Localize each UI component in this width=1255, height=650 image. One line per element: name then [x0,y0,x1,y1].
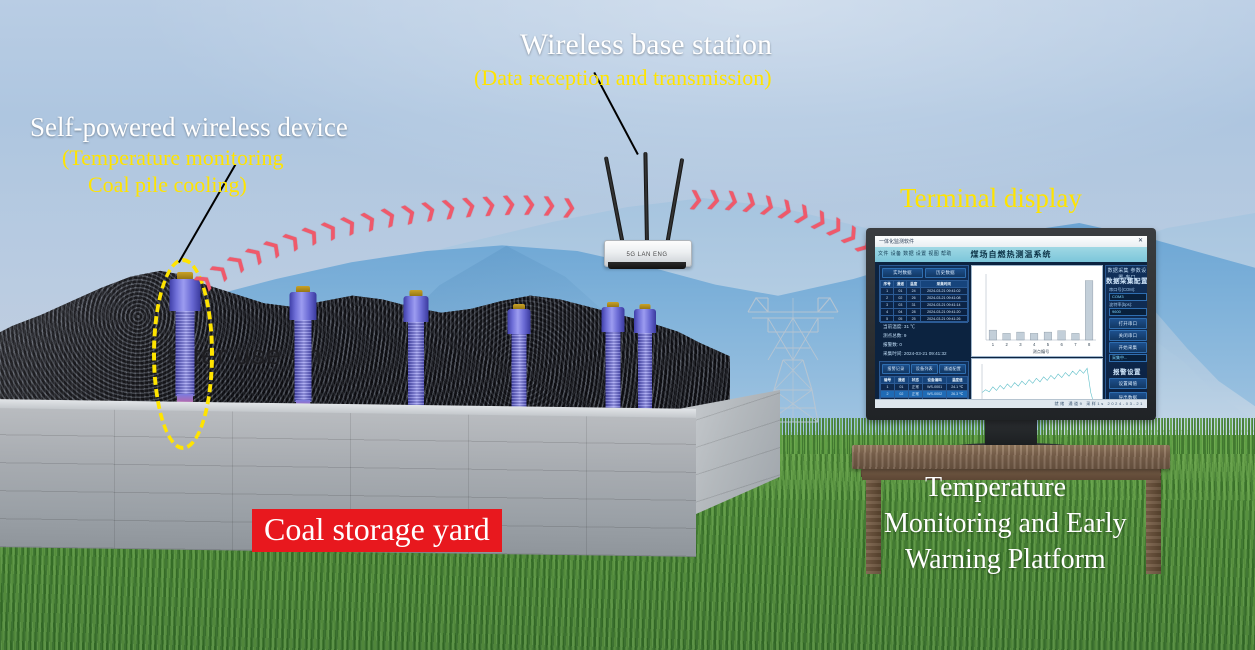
tab-alarm-records[interactable]: 报警记录 [882,364,910,374]
cell: 正常 [908,384,922,391]
baud-rate-input[interactable]: 9600 [1109,308,1147,316]
cell: 26.3 ℃ [947,391,968,398]
table-header-row: 编号 通道 状态 设备编码 温度值 [881,377,968,384]
collect-status-input[interactable]: 采集中... [1109,354,1147,362]
info-current-temp: 当前温度: 31 ℃ [883,324,915,330]
cell: 2024-03-21 09:41:02 [920,288,967,295]
table-row[interactable]: 2 02 26 2024-03-21 09:41:08 [881,295,968,302]
col-device-code: 设备编码 [922,377,947,384]
control-panel[interactable]: 数据采集 参数设置 串口 数据采集配置 串口号(COM): COM3 波特率(b… [1105,265,1147,408]
probe-body [290,292,317,320]
info-alarm-count: 报警数: 0 [883,342,902,348]
monitor-screen[interactable]: 一体化监测软件 ✕ 文件 设备 数据 设置 视图 帮助 煤场自燃热测温系统 实时… [875,236,1147,408]
device-label-subtitle-1: (Temperature monitoring [62,145,283,171]
cell: 2024-03-21 09:41:14 [920,302,967,309]
terminal-monitor[interactable]: 一体化监测软件 ✕ 文件 设备 数据 设置 视图 帮助 煤场自燃热测温系统 实时… [866,228,1156,420]
device-label-title: Self-powered wireless device [30,112,348,143]
tab-device-list[interactable]: 设备列表 [911,364,938,374]
table-row[interactable]: 5 05 25 2024-03-21 09:41:26 [881,316,968,323]
cell: 4 [881,309,894,316]
cell: 31 [907,302,920,309]
open-serial-button[interactable]: 打开串口 [1109,318,1147,329]
cell: 02 [894,391,908,398]
bench-leg-left [866,466,881,574]
realtime-data-panel[interactable]: 实时数据 历史数据 序号 通道 温度 采集时间 1 [879,265,969,322]
svg-text:测点编号: 测点编号 [1033,348,1050,355]
bar-chart-svg: 12345678测点编号 [972,266,1102,356]
bench-top [852,445,1170,469]
cell: 25 [907,316,920,323]
control-panel-heading-top: 数据采集配置 [1106,275,1147,285]
base-station-label-title: Wireless base station [520,28,772,62]
tab-realtime-data[interactable]: 实时数据 [882,268,923,278]
coal-watermark-text: after use 4h [168,340,498,371]
cell: WS-0001 [922,384,947,391]
cell: 正常 [908,391,922,398]
start-collect-button[interactable]: 开始采集 [1109,342,1147,353]
scene-illustration: after use 4h [0,0,1255,650]
cell: WS-0002 [922,391,947,398]
router-port-label: 5G LAN ENG [612,252,682,258]
cell: 28 [907,309,920,316]
platform-label-line2: Monitoring and Early [884,508,1127,540]
probe-body [508,309,531,334]
col-channel: 通道 [894,281,907,288]
coal-storage-yard-banner: Coal storage yard [252,509,502,552]
monitor-neck [985,418,1037,448]
probe-body [602,307,625,332]
probe-body [404,296,429,322]
close-icon[interactable]: ✕ [1138,237,1143,244]
cell: 2 [881,391,895,398]
router-base-plate [608,262,686,269]
cell: 01 [894,384,908,391]
table-row[interactable]: 3 03 31 2024-03-21 09:41:14 [881,302,968,309]
cell: 24.1 ℃ [947,384,968,391]
cell: 1 [881,384,895,391]
app-body: 实时数据 历史数据 序号 通道 温度 采集时间 1 [875,262,1147,408]
app-menubar[interactable]: 文件 设备 数据 设置 视图 帮助 煤场自燃热测温系统 [875,247,1147,262]
platform-label-line1: Temperature [925,472,1066,504]
col-temp: 温度 [907,281,920,288]
col-value: 温度值 [947,377,968,384]
probe-neck [638,333,652,415]
col-index: 序号 [881,281,894,288]
cell: 04 [894,309,907,316]
bench-leg-right [1146,466,1161,574]
cell: 3 [881,302,894,309]
cell: 2024-03-21 09:41:20 [920,309,967,316]
table-row[interactable]: 1 01 正常 WS-0001 24.1 ℃ [881,384,968,391]
bar-chart-panel[interactable]: 12345678测点编号 [971,265,1103,357]
app-window-title: 一体化监测软件 [879,238,914,245]
serial-port-input[interactable]: COM3 [1109,293,1147,301]
statusbar-text: 就绪 通道9 采样1s 2024-03-21 [1055,401,1144,407]
col-status: 状态 [908,377,922,384]
tab-history-data[interactable]: 历史数据 [925,268,966,278]
realtime-data-table[interactable]: 序号 通道 温度 采集时间 1 01 24 2024-03-21 09:41:0… [880,280,968,323]
tab-channel-config[interactable]: 通道配置 [939,364,966,374]
col-time: 采集时间 [920,281,967,288]
app-statusbar: 就绪 通道9 采样1s 2024-03-21 [875,399,1147,408]
probe-body [634,309,656,333]
info-timestamp: 采集时间: 2024-03-21 09:41:32 [883,351,947,357]
info-point-count: 测点总数: 9 [883,333,906,339]
cell: 03 [894,302,907,309]
cell: 1 [881,288,894,295]
table-header-row: 序号 通道 温度 采集时间 [881,281,968,288]
cell: 2024-03-21 09:41:08 [920,295,967,302]
probe-neck [408,322,424,410]
set-threshold-button[interactable]: 设置阈值 [1109,378,1147,389]
col-channel: 通道 [894,377,908,384]
probe-neck [606,332,621,416]
cell: 2024-03-21 09:41:26 [920,316,967,323]
terminal-display-label: Terminal display [900,183,1082,214]
cell: 01 [894,288,907,295]
table-row[interactable]: 1 01 24 2024-03-21 09:41:02 [881,288,968,295]
table-row[interactable]: 4 04 28 2024-03-21 09:41:20 [881,309,968,316]
control-panel-heading-bottom: 报警设置 [1106,366,1147,376]
cell: 05 [894,316,907,323]
cell: 02 [894,295,907,302]
close-serial-button[interactable]: 关闭串口 [1109,330,1147,341]
cell: 24 [907,288,920,295]
platform-label-line3: Warning Platform [905,544,1106,576]
col-no: 编号 [881,377,895,384]
cell: 5 [881,316,894,323]
probe-neck [295,320,312,402]
table-row[interactable]: 2 02 正常 WS-0002 26.3 ℃ [881,391,968,398]
cell: 2 [881,295,894,302]
device-label-subtitle-2: Coal pile cooling) [88,172,247,198]
base-station-label-subtitle: (Data reception and transmission) [474,65,772,91]
cell: 26 [907,295,920,302]
app-heading-title: 煤场自燃热测温系统 [875,249,1147,260]
